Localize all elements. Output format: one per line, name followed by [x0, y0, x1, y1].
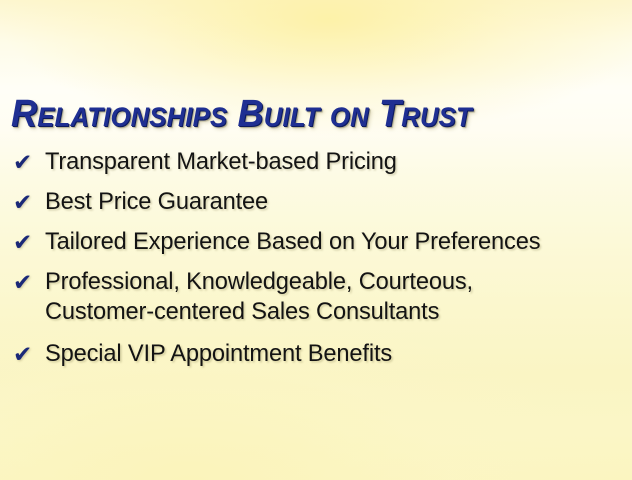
list-item-label: Transparent Market-based Pricing — [45, 147, 623, 177]
list-item: ✔ Best Price Guarantee — [0, 187, 632, 217]
bullet-list: ✔ Transparent Market-based Pricing ✔ Bes… — [0, 147, 632, 379]
list-item: ✔ Transparent Market-based Pricing — [0, 147, 632, 177]
check-icon: ✔ — [13, 339, 45, 369]
check-icon: ✔ — [13, 147, 45, 177]
presentation-slide: Relationships Built on Trust ✔ Transpare… — [0, 0, 632, 480]
list-item-label: Special VIP Appointment Benefits — [45, 339, 623, 369]
list-item: ✔ Professional, Knowledgeable, Courteous… — [0, 267, 632, 327]
check-icon: ✔ — [13, 227, 45, 257]
title-block: Relationships Built on Trust — [0, 92, 632, 140]
check-icon: ✔ — [13, 267, 45, 297]
list-item-label: Best Price Guarantee — [45, 187, 623, 217]
page-title: Relationships Built on Trust — [11, 92, 597, 136]
list-item: ✔ Special VIP Appointment Benefits — [0, 339, 632, 369]
list-item-label: Professional, Knowledgeable, Courteous, … — [45, 267, 623, 327]
list-item-label: Tailored Experience Based on Your Prefer… — [45, 227, 623, 257]
check-icon: ✔ — [13, 187, 45, 217]
list-item: ✔ Tailored Experience Based on Your Pref… — [0, 227, 632, 257]
